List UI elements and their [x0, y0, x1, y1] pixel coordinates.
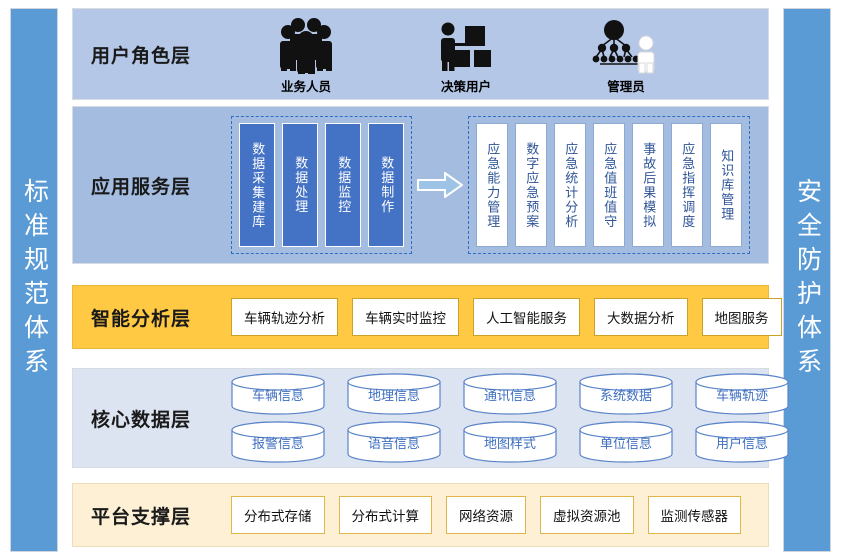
- app-box-data-produce[interactable]: 数据制作: [368, 123, 404, 247]
- layer-user-role: 用户角色层: [72, 8, 769, 100]
- app-group-data-pipeline: 数据采集建库 数据处理 数据监控 数据制作: [231, 116, 412, 254]
- smart-item-label: 人工智能服务: [486, 307, 567, 327]
- smart-item-label: 地图服务: [715, 307, 769, 327]
- smart-item-vehicle-track-analysis[interactable]: 车辆轨迹分析: [231, 298, 338, 336]
- data-cylinder-vehicle-track[interactable]: 车辆轨迹: [695, 373, 789, 415]
- layer-smart-analysis-title: 智能分析层: [91, 304, 231, 331]
- data-cylinder-label: 报警信息: [252, 433, 304, 452]
- app-box-duty-watch[interactable]: 应急值班值守: [593, 123, 625, 247]
- smart-item-label: 车辆实时监控: [365, 307, 446, 327]
- left-pillar-label: 标准规范体系: [22, 178, 47, 382]
- data-cylinder-label: 用户信息: [716, 433, 768, 452]
- platform-item-monitor-sensor[interactable]: 监测传感器: [648, 496, 742, 534]
- layer-core-data-title: 核心数据层: [91, 405, 231, 432]
- layer-app-service: 应用服务层 数据采集建库 数据处理 数据监控 数据制作 应急能力管理 数字应急预…: [72, 106, 769, 264]
- core-data-cylinder-grid: 车辆信息 地理信息 通讯信息: [231, 373, 789, 463]
- app-service-body: 数据采集建库 数据处理 数据监控 数据制作 应急能力管理 数字应急预案 应急统计…: [231, 107, 768, 263]
- smart-item-ai-service[interactable]: 人工智能服务: [473, 298, 580, 336]
- role-item-decision-user[interactable]: 决策用户: [381, 18, 551, 95]
- platform-item-label: 虚拟资源池: [553, 505, 621, 525]
- platform-item-label: 监测传感器: [661, 505, 729, 525]
- data-cylinder-vehicle-info[interactable]: 车辆信息: [231, 373, 325, 415]
- platform-item-virtual-resource-pool[interactable]: 虚拟资源池: [540, 496, 634, 534]
- app-box-data-process-label: 数据处理: [293, 156, 308, 214]
- app-box-digital-plan[interactable]: 数字应急预案: [515, 123, 547, 247]
- app-box-emergency-stats[interactable]: 应急统计分析: [554, 123, 586, 247]
- role-label-business-staff: 业务人员: [281, 76, 331, 95]
- smart-item-label: 车辆轨迹分析: [244, 307, 325, 327]
- layer-platform-support: 平台支撑层 分布式存储 分布式计算 网络资源 虚拟资源池 监测传感器: [72, 483, 769, 547]
- data-cylinder-comm-info[interactable]: 通讯信息: [463, 373, 557, 415]
- app-box-emergency-stats-label: 应急统计分析: [563, 142, 578, 229]
- right-pillar: 安全防护体系: [783, 8, 831, 552]
- data-cylinder-system-data[interactable]: 系统数据: [579, 373, 673, 415]
- right-arrow-icon: [412, 172, 468, 198]
- app-box-data-monitor-label: 数据监控: [336, 156, 351, 214]
- app-box-duty-watch-label: 应急值班值守: [602, 142, 617, 229]
- platform-item-network-resource[interactable]: 网络资源: [446, 496, 526, 534]
- person-with-blocks-icon: [435, 18, 497, 74]
- layer-core-data: 核心数据层 车辆信息 地理信息: [72, 368, 769, 468]
- app-box-accident-simulation[interactable]: 事故后果模拟: [632, 123, 664, 247]
- app-box-command-dispatch[interactable]: 应急指挥调度: [671, 123, 703, 247]
- data-cylinder-label: 地图样式: [484, 433, 536, 452]
- smart-item-map-service[interactable]: 地图服务: [702, 298, 782, 336]
- data-cylinder-geo-info[interactable]: 地理信息: [347, 373, 441, 415]
- app-box-command-dispatch-label: 应急指挥调度: [680, 142, 695, 229]
- group-people-icon: [272, 18, 340, 74]
- app-box-data-produce-label: 数据制作: [379, 156, 394, 214]
- app-box-knowledge-base[interactable]: 知识库管理: [710, 123, 742, 247]
- app-box-knowledge-base-label: 知识库管理: [719, 149, 734, 222]
- org-hierarchy-person-icon: [590, 18, 662, 74]
- platform-item-distributed-storage[interactable]: 分布式存储: [231, 496, 325, 534]
- data-cylinder-label: 车辆轨迹: [716, 385, 768, 404]
- data-cylinder-label: 语音信息: [368, 433, 420, 452]
- layer-app-service-title: 应用服务层: [91, 172, 231, 199]
- platform-item-distributed-compute[interactable]: 分布式计算: [339, 496, 433, 534]
- left-pillar: 标准规范体系: [10, 8, 58, 552]
- layer-user-role-title: 用户角色层: [91, 41, 231, 68]
- app-box-accident-simulation-label: 事故后果模拟: [641, 142, 656, 229]
- role-label-administrator: 管理员: [607, 76, 645, 95]
- platform-item-label: 分布式计算: [352, 505, 420, 525]
- layer-platform-support-title: 平台支撑层: [91, 502, 231, 529]
- app-box-data-monitor[interactable]: 数据监控: [325, 123, 361, 247]
- right-pillar-label: 安全防护体系: [795, 178, 820, 382]
- data-cylinder-map-style[interactable]: 地图样式: [463, 421, 557, 463]
- data-cylinder-alarm-info[interactable]: 报警信息: [231, 421, 325, 463]
- app-box-emergency-capability[interactable]: 应急能力管理: [476, 123, 508, 247]
- data-cylinder-user-info[interactable]: 用户信息: [695, 421, 789, 463]
- data-cylinder-label: 单位信息: [600, 433, 652, 452]
- smart-analysis-item-list: 车辆轨迹分析 车辆实时监控 人工智能服务 大数据分析 地图服务: [231, 298, 782, 336]
- app-group-emergency-apps: 应急能力管理 数字应急预案 应急统计分析 应急值班值守 事故后果模拟 应急指挥调…: [468, 116, 750, 254]
- platform-item-label: 分布式存储: [244, 505, 312, 525]
- platform-item-label: 网络资源: [459, 505, 513, 525]
- layer-smart-analysis: 智能分析层 车辆轨迹分析 车辆实时监控 人工智能服务 大数据分析 地图服务: [72, 285, 769, 349]
- data-cylinder-voice-info[interactable]: 语音信息: [347, 421, 441, 463]
- smart-item-vehicle-realtime-monitor[interactable]: 车辆实时监控: [352, 298, 459, 336]
- app-box-data-process[interactable]: 数据处理: [282, 123, 318, 247]
- data-cylinder-label: 地理信息: [368, 385, 420, 404]
- data-cylinder-unit-info[interactable]: 单位信息: [579, 421, 673, 463]
- role-label-decision-user: 决策用户: [441, 76, 491, 95]
- role-item-business-staff[interactable]: 业务人员: [231, 18, 381, 95]
- app-box-data-collect-label: 数据采集建库: [250, 142, 265, 229]
- app-box-data-collect[interactable]: 数据采集建库: [239, 123, 275, 247]
- user-role-list: 业务人员 决: [231, 9, 768, 99]
- app-box-digital-plan-label: 数字应急预案: [524, 142, 539, 229]
- platform-support-item-list: 分布式存储 分布式计算 网络资源 虚拟资源池 监测传感器: [231, 496, 768, 534]
- data-cylinder-label: 通讯信息: [484, 385, 536, 404]
- role-item-administrator[interactable]: 管理员: [551, 18, 701, 95]
- data-cylinder-label: 车辆信息: [252, 385, 304, 404]
- smart-item-big-data-analysis[interactable]: 大数据分析: [594, 298, 688, 336]
- smart-item-label: 大数据分析: [607, 307, 675, 327]
- app-box-emergency-capability-label: 应急能力管理: [485, 142, 500, 229]
- architecture-diagram: 标准规范体系 安全防护体系 用户角色层: [0, 0, 841, 560]
- data-cylinder-label: 系统数据: [600, 385, 652, 404]
